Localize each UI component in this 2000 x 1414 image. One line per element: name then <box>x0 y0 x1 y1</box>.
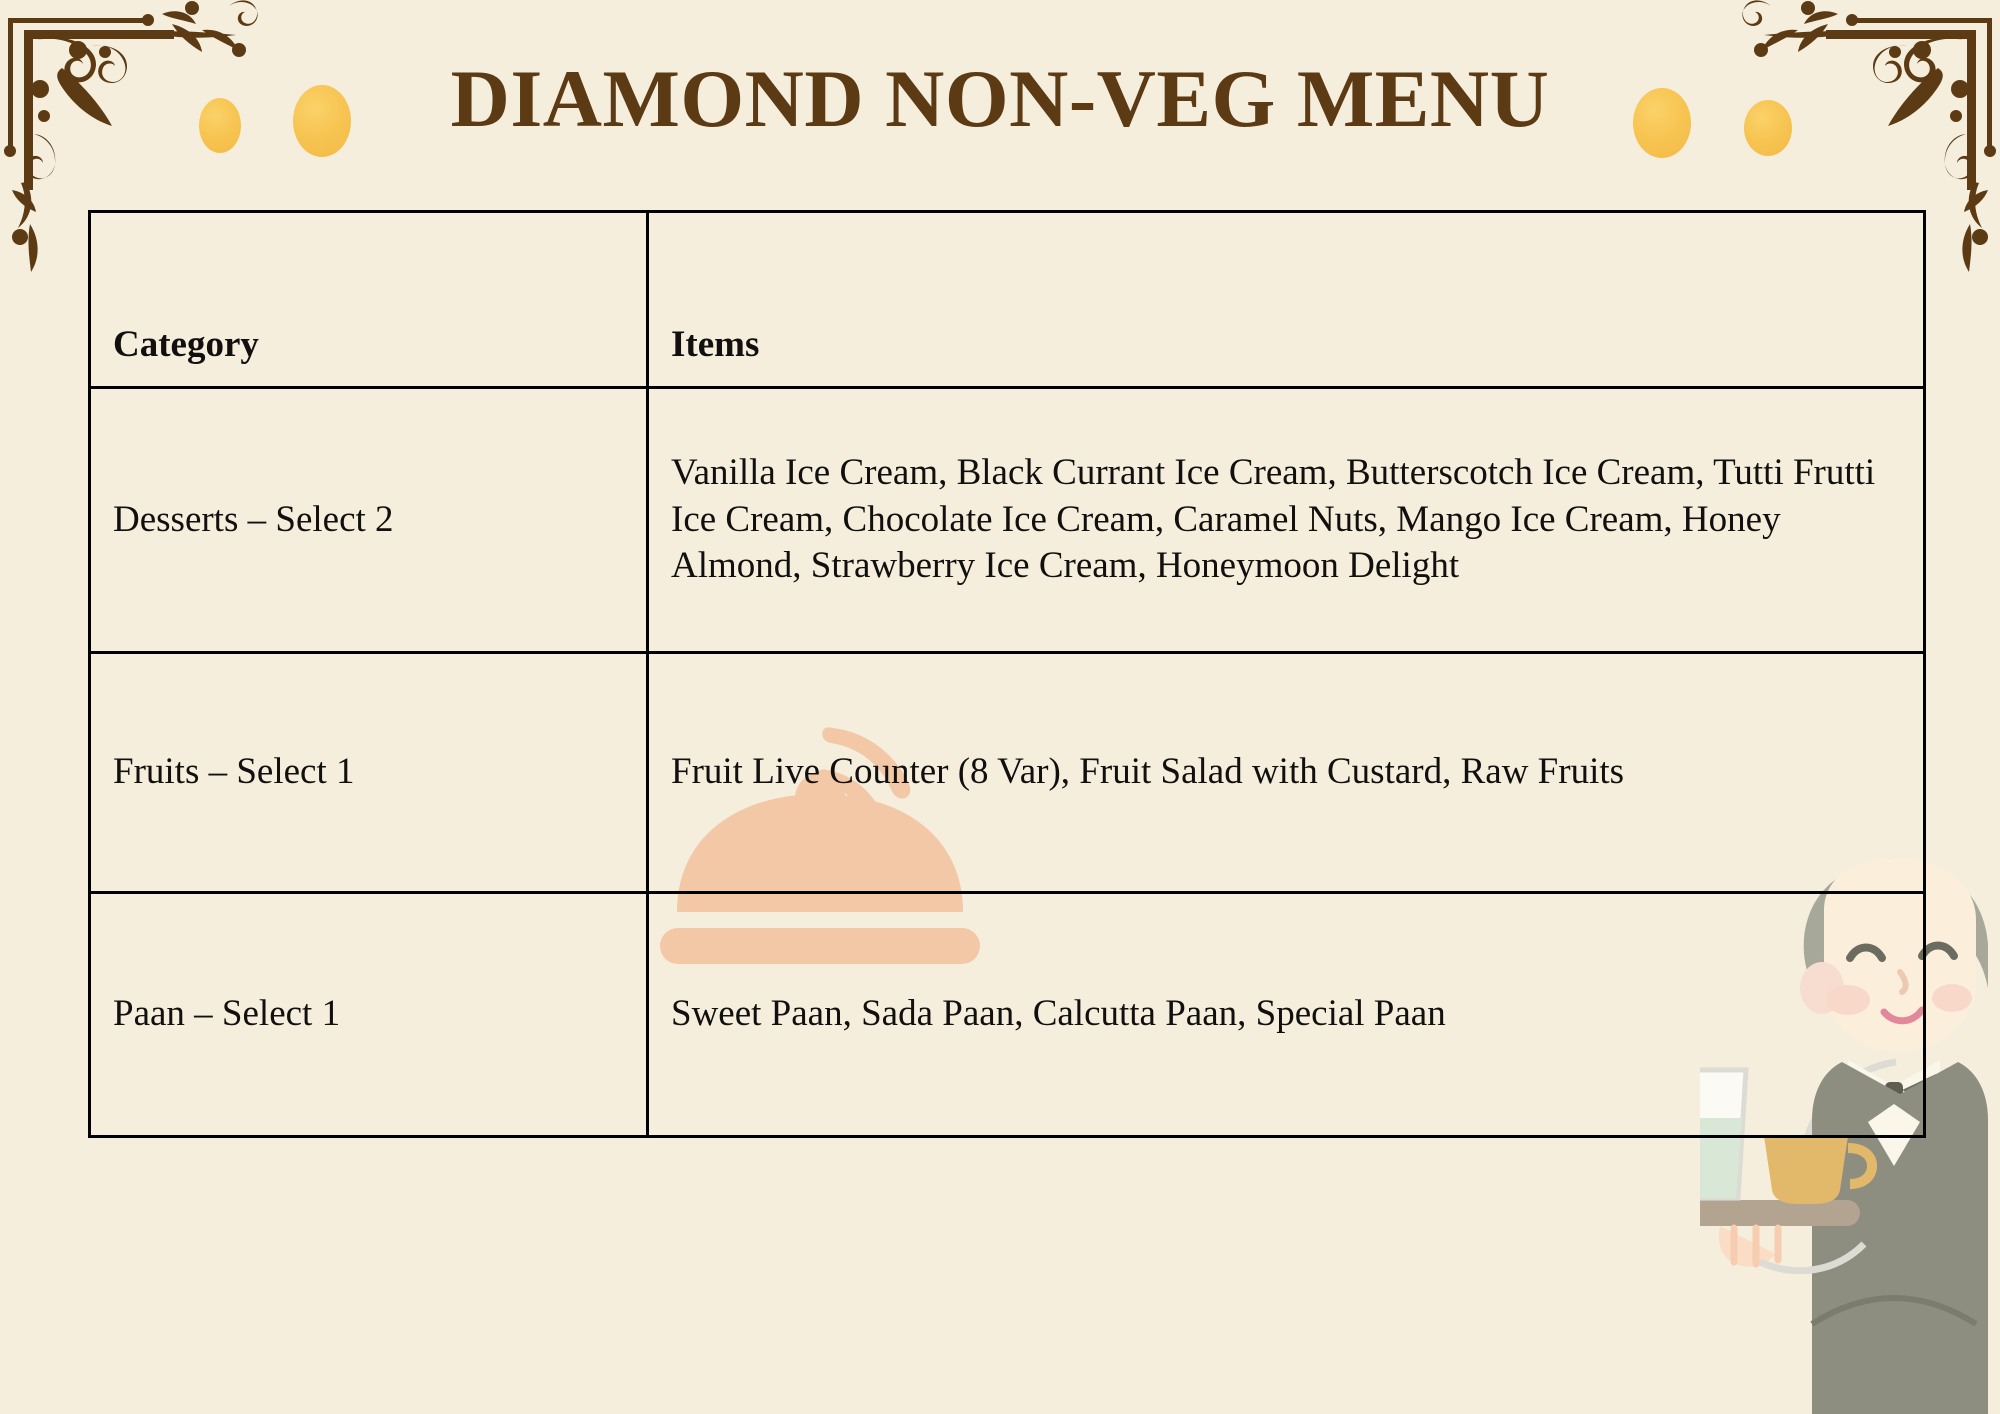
category-cell-paan: Paan – Select 1 <box>90 893 648 1137</box>
items-cell-paan: Sweet Paan, Sada Paan, Calcutta Paan, Sp… <box>648 893 1925 1137</box>
table-row: Fruits – Select 1 Fruit Live Counter (8 … <box>90 653 1925 893</box>
menu-table-container: Category Items Desserts – Select 2 Vanil… <box>88 210 1926 1135</box>
items-cell-fruits: Fruit Live Counter (8 Var), Fruit Salad … <box>648 653 1925 893</box>
table-row: Paan – Select 1 Sweet Paan, Sada Paan, C… <box>90 893 1925 1137</box>
menu-table: Category Items Desserts – Select 2 Vanil… <box>88 210 1926 1138</box>
items-cell-desserts: Vanilla Ice Cream, Black Currant Ice Cre… <box>648 388 1925 653</box>
table-row: Desserts – Select 2 Vanilla Ice Cream, B… <box>90 388 1925 653</box>
category-cell-fruits: Fruits – Select 1 <box>90 653 648 893</box>
page-title: DIAMOND NON-VEG MENU <box>0 58 2000 140</box>
category-cell-desserts: Desserts – Select 2 <box>90 388 648 653</box>
column-header-items: Items <box>648 212 1925 388</box>
table-header-row: Category Items <box>90 212 1925 388</box>
menu-page: DIAMOND NON-VEG MENU <box>0 0 2000 1414</box>
column-header-category: Category <box>90 212 648 388</box>
